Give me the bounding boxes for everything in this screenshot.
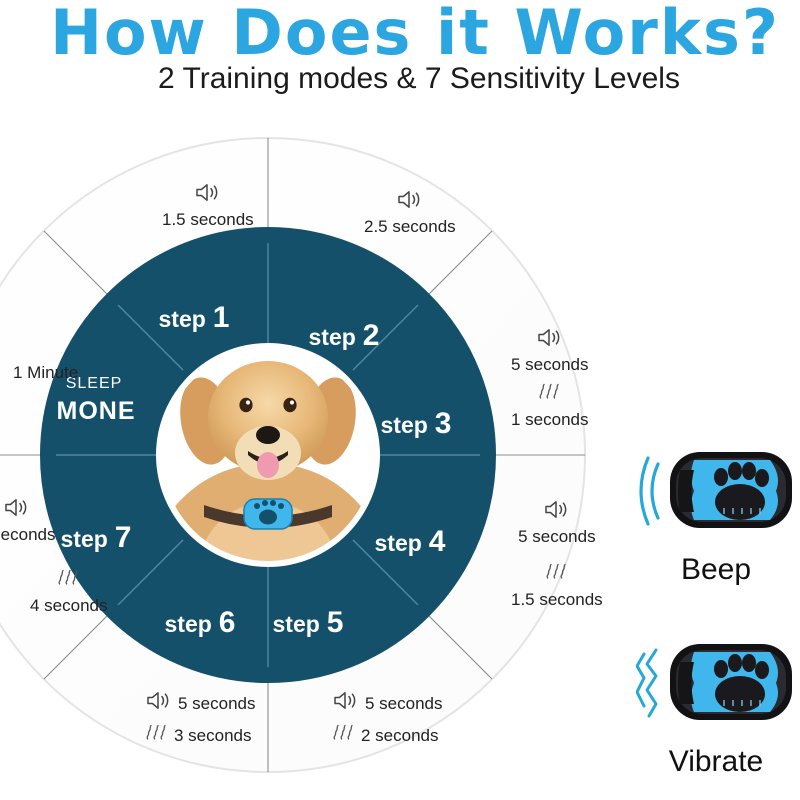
caption-step5-vibrate-text: 2 seconds <box>361 725 439 746</box>
vibrate-icon <box>146 723 168 748</box>
vibrate-device-illustration <box>636 628 796 738</box>
beep-icon <box>146 691 172 715</box>
caption-step6-vibrate-row: 3 seconds <box>146 723 256 748</box>
caption-step6: 5 seconds 3 seconds <box>146 691 256 749</box>
caption-step4: 5 seconds 1.5 seconds <box>511 500 603 610</box>
caption-sleep-text: 1 Minute <box>13 363 78 382</box>
mode-label-beep: Beep <box>636 553 796 587</box>
ring-label-step3: step3 <box>381 407 452 440</box>
caption-step5-beep-text: 5 seconds <box>365 693 443 714</box>
beep-icon <box>544 500 570 524</box>
collar-device-body <box>670 452 792 528</box>
vibrate-icon <box>539 382 561 407</box>
vibration-zigzag-icon <box>637 650 656 716</box>
ring-label-step5: step5 <box>273 606 344 639</box>
caption-step5-beep-row: 5 seconds <box>333 691 443 715</box>
caption-step7-vibrate-text: 4 seconds <box>30 595 108 616</box>
caption-step2-beep-text: 2.5 seconds <box>364 216 456 237</box>
caption-step1: 1.5 seconds <box>162 183 254 231</box>
beep-device-illustration <box>636 436 796 546</box>
poster-canvas: How Does it Works? 2 Training modes & 7 … <box>0 0 800 800</box>
beep-icon <box>4 498 30 522</box>
caption-step7-beep-text: 5 seconds <box>0 524 56 545</box>
ring-label-step4: step4 <box>375 525 446 558</box>
ring-label-step1: step1 <box>159 301 230 334</box>
ring-label-step7: step7 <box>61 521 132 554</box>
caption-step6-vibrate-text: 3 seconds <box>174 725 252 746</box>
caption-step3: 5 seconds 1 seconds <box>511 328 589 430</box>
collar-device-body <box>670 644 792 720</box>
sound-waves-icon <box>641 458 658 524</box>
ring-label-mode: MONE <box>57 397 136 425</box>
vibrate-icon <box>546 562 568 587</box>
beep-icon <box>195 183 221 207</box>
vibrate-icon <box>58 568 80 593</box>
collar-device-on-dog <box>244 499 292 529</box>
beep-icon <box>333 691 359 715</box>
caption-step5-vibrate-row: 2 seconds <box>333 723 443 748</box>
page-subtitle: 2 Training modes & 7 Sensitivity Levels <box>0 62 800 96</box>
ring-label-step6: step6 <box>165 606 236 639</box>
beep-icon <box>397 190 423 214</box>
caption-step6-beep-text: 5 seconds <box>178 693 256 714</box>
caption-step7: 5 seconds <box>0 498 56 546</box>
caption-step4-vibrate-text: 1.5 seconds <box>511 589 603 610</box>
caption-step4-beep-text: 5 seconds <box>518 526 596 547</box>
mode-card-beep: Beep <box>636 436 796 587</box>
caption-step1-beep-text: 1.5 seconds <box>162 209 254 230</box>
caption-step3-beep-text: 5 seconds <box>511 354 589 375</box>
caption-step2: 2.5 seconds <box>364 190 456 238</box>
page-title: How Does it Works? <box>0 0 800 69</box>
training-levels-wheel: step1 step2 step3 step4 step5 step6 <box>0 135 588 775</box>
ring-label-step2: step2 <box>309 319 380 352</box>
mode-label-vibrate: Vibrate <box>636 745 796 779</box>
caption-sleep-mode: 1 Minute <box>13 362 78 383</box>
caption-step7-vibrate: 4 seconds <box>30 568 108 617</box>
caption-step3-vibrate-text: 1 seconds <box>511 409 589 430</box>
vibrate-icon <box>333 723 355 748</box>
caption-step6-beep-row: 5 seconds <box>146 691 256 715</box>
beep-icon <box>537 328 563 352</box>
mode-card-vibrate: Vibrate <box>636 628 796 779</box>
caption-step5: 5 seconds 2 seconds <box>333 691 443 749</box>
